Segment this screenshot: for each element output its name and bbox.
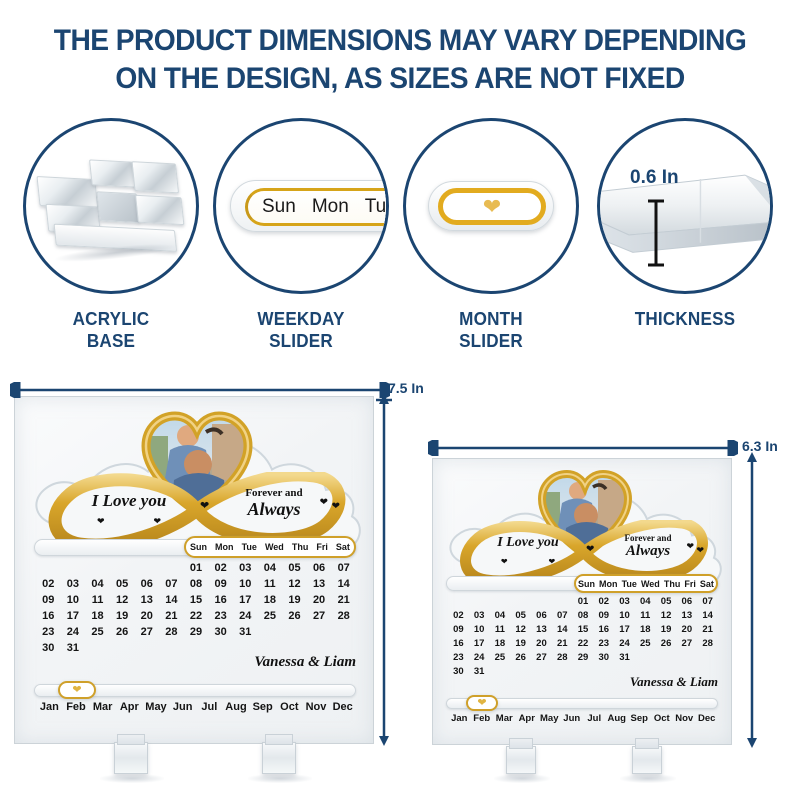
feature-weekday-slider: Sun Mon Tu WEEKDAY SLIDER <box>206 118 396 352</box>
calendar-day: 17 <box>614 624 635 635</box>
calendar-day: 28 <box>331 610 356 622</box>
calendar-day: 30 <box>448 666 469 677</box>
month-label: Jul <box>196 701 223 713</box>
calendar-empty <box>448 596 469 607</box>
acrylic-stand <box>262 742 296 774</box>
heart-icon: ❤ <box>586 545 594 555</box>
calendar-day: 14 <box>331 578 356 590</box>
weekday-label: Mon <box>215 542 234 552</box>
feature-month-slider: ❤ MONTH SLIDER <box>396 118 586 352</box>
weekday-label: Sat <box>336 542 350 552</box>
feature-label: ACRYLIC BASE <box>21 308 202 352</box>
calendar-empty <box>307 642 332 654</box>
acrylic-base-icon <box>31 143 192 268</box>
month-label: Aug <box>223 701 250 713</box>
calendar-day: 22 <box>184 610 209 622</box>
calendar-empty <box>552 596 573 607</box>
calendar-empty <box>635 652 656 663</box>
calendar-day: 06 <box>134 578 159 590</box>
heart-icon: ❤ <box>200 501 209 512</box>
feature-label-line1: THICKNESS <box>595 308 776 330</box>
feature-label: MONTH SLIDER <box>401 308 582 352</box>
calendar-day: 25 <box>258 610 283 622</box>
ribbon-left-text: I Love you ❤ ❤ <box>478 536 578 568</box>
calendar-empty <box>36 562 61 574</box>
calendar-day: 07 <box>331 562 356 574</box>
calendar-day: 05 <box>282 562 307 574</box>
ribbon-left-text: I Love you ❤ ❤ <box>70 492 188 528</box>
signature-text: Vanessa & Liam <box>254 654 356 671</box>
month-label: Sep <box>628 713 651 724</box>
calendar-empty <box>85 642 110 654</box>
calendar-day: 30 <box>593 652 614 663</box>
month-label: Sep <box>249 701 276 713</box>
month-label: Jan <box>36 701 63 713</box>
calendar-day: 18 <box>635 624 656 635</box>
calendar-day: 13 <box>676 610 697 621</box>
weekday-label: Sun <box>190 542 207 552</box>
height-arrow-small <box>744 450 760 750</box>
calendar-day: 26 <box>510 652 531 663</box>
product-large-plaque: I Love you ❤ ❤ Forever and Always ❤ ❤ ❤ … <box>14 396 374 744</box>
calendar-grid: 0102030405060702030405060708091011121314… <box>36 562 356 654</box>
calendar-day: 19 <box>110 610 135 622</box>
calendar-day: 17 <box>233 594 258 606</box>
calendar-day: 21 <box>552 638 573 649</box>
calendar-day: 01 <box>573 596 594 607</box>
calendar-empty <box>510 596 531 607</box>
calendar-day: 20 <box>134 610 159 622</box>
calendar-empty <box>490 596 511 607</box>
calendar-day: 14 <box>697 610 718 621</box>
month-label: Nov <box>673 713 696 724</box>
month-label: Jan <box>448 713 471 724</box>
calendar-empty <box>676 652 697 663</box>
calendar-empty <box>208 642 233 654</box>
weekday-label: Sun <box>578 579 595 589</box>
calendar-empty <box>110 642 135 654</box>
page-title-line1: THE PRODUCT DIMENSIONS MAY VARY DEPENDIN… <box>24 22 776 60</box>
feature-circle <box>23 118 199 294</box>
calendar-empty <box>159 562 184 574</box>
month-row: JanFebMarAprMayJunJulAugSepOctNovDec <box>36 701 356 713</box>
calendar-day: 10 <box>469 624 490 635</box>
heart-icon: ❤ <box>477 698 486 709</box>
month-label: May <box>538 713 561 724</box>
feature-row: ACRYLIC BASE Sun Mon Tu WEEKDAY SLIDER <box>0 118 800 378</box>
calendar-empty <box>552 666 573 677</box>
calendar-day: 27 <box>307 610 332 622</box>
calendar-empty <box>282 642 307 654</box>
sample-day: Mon <box>312 196 349 218</box>
calendar-day: 15 <box>184 594 209 606</box>
calendar-day: 10 <box>614 610 635 621</box>
month-label: Dec <box>329 701 356 713</box>
month-label: Apr <box>116 701 143 713</box>
month-label: Oct <box>651 713 674 724</box>
calendar-grid: 0102030405060702030405060708091011121314… <box>448 596 718 677</box>
calendar-day: 08 <box>184 578 209 590</box>
calendar-day: 10 <box>233 578 258 590</box>
heart-icon: ❤ <box>686 542 694 551</box>
calendar-empty <box>531 666 552 677</box>
calendar-day: 12 <box>110 594 135 606</box>
calendar-day: 12 <box>656 610 677 621</box>
calendar-empty <box>469 596 490 607</box>
month-label: Nov <box>303 701 330 713</box>
calendar-empty <box>61 562 86 574</box>
calendar-day: 11 <box>258 578 283 590</box>
feature-label-line1: WEEKDAY <box>211 308 392 330</box>
calendar-empty <box>307 626 332 638</box>
calendar-empty <box>85 562 110 574</box>
calendar-day: 03 <box>61 578 86 590</box>
heart-icon: ❤ <box>501 557 508 566</box>
month-slider-pill[interactable]: ❤ <box>58 681 96 699</box>
calendar-day: 31 <box>469 666 490 677</box>
calendar-day: 20 <box>676 624 697 635</box>
month-label: Jun <box>561 713 584 724</box>
acrylic-stand <box>632 746 662 774</box>
calendar-day: 11 <box>85 594 110 606</box>
calendar-day: 11 <box>635 610 656 621</box>
month-slider-pill[interactable]: ❤ <box>466 695 498 711</box>
calendar-day: 20 <box>307 594 332 606</box>
calendar-day: 04 <box>635 596 656 607</box>
calendar-day: 30 <box>208 626 233 638</box>
ribbon-right-text: Forever and Always ❤ ❤ ❤ <box>214 488 334 518</box>
calendar-day: 30 <box>36 642 61 654</box>
calendar-day: 09 <box>448 624 469 635</box>
calendar-day: 27 <box>676 638 697 649</box>
feature-thickness: 0.6 In THICKNESS <box>590 118 780 330</box>
calendar-day: 14 <box>159 594 184 606</box>
calendar-day: 06 <box>676 596 697 607</box>
calendar-day: 04 <box>85 578 110 590</box>
feature-label: THICKNESS <box>595 308 776 330</box>
calendar-day: 20 <box>531 638 552 649</box>
calendar-empty <box>110 562 135 574</box>
calendar-day: 09 <box>36 594 61 606</box>
calendar-day: 21 <box>697 624 718 635</box>
calendar-day: 27 <box>134 626 159 638</box>
feature-circle: Sun Mon Tu <box>213 118 389 294</box>
calendar-day: 16 <box>448 638 469 649</box>
feature-label-line2: SLIDER <box>211 330 392 352</box>
weekday-slider-pill[interactable]: SunMonTueWedThuFriSat <box>574 574 718 593</box>
feature-label: WEEKDAY SLIDER <box>211 308 392 352</box>
calendar-empty <box>258 626 283 638</box>
weekday-label: Fri <box>316 542 328 552</box>
calendar-day: 07 <box>697 596 718 607</box>
calendar-day: 09 <box>208 578 233 590</box>
calendar-day: 31 <box>233 626 258 638</box>
calendar-empty <box>134 562 159 574</box>
calendar-day: 13 <box>134 594 159 606</box>
calendar-day: 18 <box>490 638 511 649</box>
month-label: Aug <box>606 713 629 724</box>
heart-icon: ❤ <box>548 557 555 566</box>
calendar-day: 05 <box>110 578 135 590</box>
calendar-day: 03 <box>614 596 635 607</box>
calendar-day: 05 <box>510 610 531 621</box>
calendar-day: 15 <box>573 624 594 635</box>
weekday-slider-pill[interactable]: SunMonTueWedThuFriSat <box>184 536 356 558</box>
month-label: Jul <box>583 713 606 724</box>
thickness-value: 0.6 In <box>630 167 679 189</box>
feature-acrylic-base: ACRYLIC BASE <box>16 118 206 352</box>
calendar-day: 24 <box>233 610 258 622</box>
calendar-day: 27 <box>531 652 552 663</box>
thickness-measure-bar <box>646 197 666 269</box>
calendar-day: 12 <box>282 578 307 590</box>
calendar-day: 18 <box>85 610 110 622</box>
thickness-icon <box>600 121 770 291</box>
calendar-day: 19 <box>510 638 531 649</box>
page-title: THE PRODUCT DIMENSIONS MAY VARY DEPENDIN… <box>24 22 776 98</box>
month-row: JanFebMarAprMayJunJulAugSepOctNovDec <box>448 713 718 724</box>
calendar-day: 10 <box>61 594 86 606</box>
calendar-day: 25 <box>635 638 656 649</box>
signature-text: Vanessa & Liam <box>630 674 718 690</box>
heart-icon: ❤ <box>72 685 81 696</box>
calendar-day: 02 <box>208 562 233 574</box>
calendar-day: 02 <box>593 596 614 607</box>
calendar-day: 09 <box>593 610 614 621</box>
month-label: Feb <box>471 713 494 724</box>
sample-day: Tu <box>365 196 386 218</box>
page-title-line2: ON THE DESIGN, AS SIZES ARE NOT FIXED <box>24 60 776 98</box>
calendar-day: 16 <box>208 594 233 606</box>
calendar-day: 01 <box>184 562 209 574</box>
ribbon-right-text: Forever and Always ❤ ❤ ❤ <box>598 534 698 559</box>
calendar-empty <box>573 666 594 677</box>
calendar-day: 19 <box>656 624 677 635</box>
calendar-day: 26 <box>110 626 135 638</box>
calendar-day: 08 <box>573 610 594 621</box>
month-label: Dec <box>696 713 719 724</box>
calendar-empty <box>656 652 677 663</box>
calendar-day: 25 <box>85 626 110 638</box>
calendar-day: 22 <box>573 638 594 649</box>
calendar-day: 29 <box>573 652 594 663</box>
calendar-day: 16 <box>593 624 614 635</box>
heart-icon: ❤ <box>153 516 161 526</box>
calendar-day: 04 <box>258 562 283 574</box>
weekday-label: Tue <box>622 579 637 589</box>
calendar-day: 14 <box>552 624 573 635</box>
calendar-day: 19 <box>282 594 307 606</box>
weekday-label: Fri <box>684 579 696 589</box>
calendar-day: 21 <box>331 594 356 606</box>
calendar-day: 26 <box>282 610 307 622</box>
calendar-empty <box>510 666 531 677</box>
feature-label-line1: ACRYLIC <box>21 308 202 330</box>
calendar-day: 24 <box>614 638 635 649</box>
calendar-day: 28 <box>697 638 718 649</box>
month-label: May <box>143 701 170 713</box>
acrylic-stand <box>506 746 536 774</box>
calendar-empty <box>331 642 356 654</box>
weekday-label: Thu <box>292 542 309 552</box>
calendar-day: 28 <box>159 626 184 638</box>
product-small-plaque: I Love you ❤ ❤ Forever and Always ❤ ❤ ❤ … <box>432 458 732 745</box>
calendar-day: 12 <box>510 624 531 635</box>
calendar-day: 23 <box>593 638 614 649</box>
calendar-day: 11 <box>490 624 511 635</box>
calendar-day: 04 <box>490 610 511 621</box>
width-arrow-small <box>428 440 738 456</box>
heart-icon: ❤ <box>320 498 328 508</box>
calendar-day: 28 <box>552 652 573 663</box>
calendar-day: 24 <box>61 626 86 638</box>
calendar-day: 16 <box>36 610 61 622</box>
calendar-empty <box>593 666 614 677</box>
feature-circle: ❤ <box>403 118 579 294</box>
feature-label-line2: BASE <box>21 330 202 352</box>
calendar-day: 26 <box>656 638 677 649</box>
sample-day: Sun <box>262 196 296 218</box>
height-arrow-large <box>376 392 392 748</box>
calendar-day: 24 <box>469 652 490 663</box>
width-label-large: 7.5 In <box>388 380 424 396</box>
calendar-day: 02 <box>448 610 469 621</box>
calendar-day: 13 <box>307 578 332 590</box>
heart-icon: ❤ <box>97 516 105 526</box>
calendar-day: 07 <box>552 610 573 621</box>
heart-icon: ❤ <box>332 502 340 512</box>
calendar-day: 03 <box>233 562 258 574</box>
calendar-empty <box>282 626 307 638</box>
heart-icon: ❤ <box>696 546 704 555</box>
weekday-slider-icon: Sun Mon Tu <box>230 180 389 232</box>
infographic-canvas: THE PRODUCT DIMENSIONS MAY VARY DEPENDIN… <box>0 0 800 800</box>
heart-icon: ❤ <box>483 196 501 218</box>
width-arrow-large <box>10 382 390 398</box>
calendar-empty <box>331 626 356 638</box>
month-label: Mar <box>89 701 116 713</box>
calendar-day: 23 <box>208 610 233 622</box>
month-label: Feb <box>63 701 90 713</box>
weekday-label: Tue <box>242 542 257 552</box>
calendar-empty <box>184 642 209 654</box>
calendar-day: 03 <box>469 610 490 621</box>
calendar-day: 06 <box>307 562 332 574</box>
feature-label-line1: MONTH <box>401 308 582 330</box>
calendar-empty <box>258 642 283 654</box>
weekday-label: Wed <box>265 542 284 552</box>
calendar-day: 23 <box>448 652 469 663</box>
calendar-empty <box>697 652 718 663</box>
calendar-day: 21 <box>159 610 184 622</box>
calendar-empty <box>233 642 258 654</box>
calendar-empty <box>531 596 552 607</box>
weekday-label: Mon <box>599 579 618 589</box>
calendar-day: 31 <box>614 652 635 663</box>
calendar-day: 31 <box>61 642 86 654</box>
acrylic-stand <box>114 742 148 774</box>
month-label: Mar <box>493 713 516 724</box>
calendar-day: 23 <box>36 626 61 638</box>
calendar-empty <box>490 666 511 677</box>
weekday-label: Thu <box>664 579 681 589</box>
month-label: Jun <box>169 701 196 713</box>
calendar-empty <box>134 642 159 654</box>
calendar-day: 17 <box>469 638 490 649</box>
calendar-day: 07 <box>159 578 184 590</box>
calendar-day: 29 <box>184 626 209 638</box>
calendar-day: 25 <box>490 652 511 663</box>
weekday-label: Sat <box>700 579 714 589</box>
calendar-day: 02 <box>36 578 61 590</box>
weekday-label: Wed <box>641 579 660 589</box>
month-slider-icon: ❤ <box>428 181 554 231</box>
feature-circle: 0.6 In <box>597 118 773 294</box>
calendar-day: 17 <box>61 610 86 622</box>
calendar-empty <box>159 642 184 654</box>
feature-label-line2: SLIDER <box>401 330 582 352</box>
calendar-day: 05 <box>656 596 677 607</box>
calendar-day: 18 <box>258 594 283 606</box>
month-label: Oct <box>276 701 303 713</box>
calendar-day: 06 <box>531 610 552 621</box>
calendar-day: 13 <box>531 624 552 635</box>
month-label: Apr <box>516 713 539 724</box>
